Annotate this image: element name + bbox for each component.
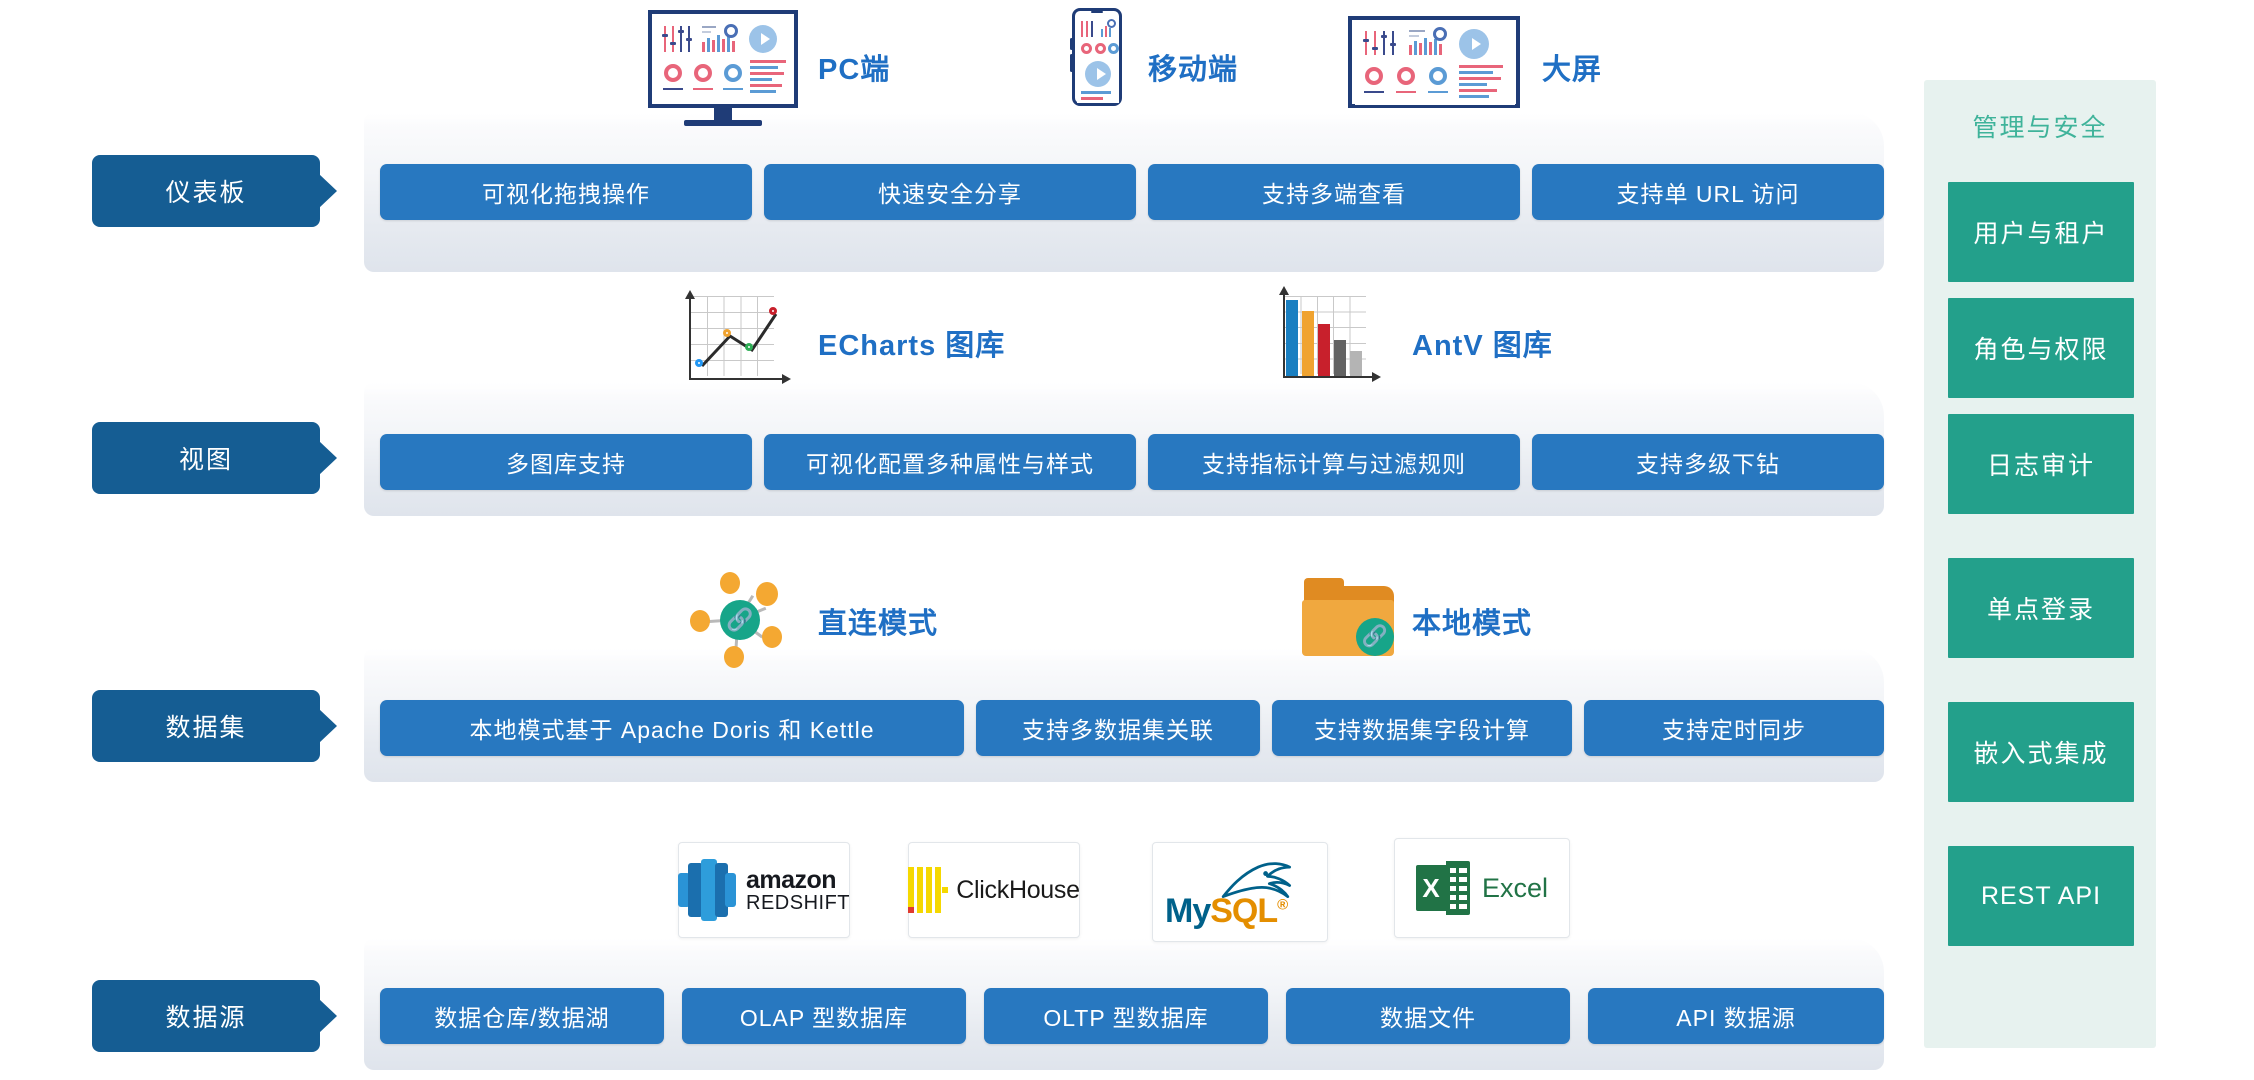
mock-donut xyxy=(664,64,682,82)
mock-line xyxy=(1396,91,1416,93)
mock-donut xyxy=(1108,43,1119,54)
mock-slider-knob xyxy=(1390,43,1396,46)
feature-label: OLAP 型数据库 xyxy=(740,999,908,1033)
amazon-redshift-logo-card[interactable]: amazon REDSHIFT xyxy=(678,842,850,938)
layer-label-view[interactable]: 视图 xyxy=(92,422,320,494)
network-node xyxy=(756,582,778,606)
feature-pill[interactable]: 支持指标计算与过滤规则 xyxy=(1148,434,1520,490)
mock-donut xyxy=(1365,67,1383,85)
feature-label: OLTP 型数据库 xyxy=(1043,999,1208,1033)
chart-point xyxy=(769,307,777,315)
amazon-redshift-logo: amazon REDSHIFT xyxy=(678,859,850,921)
excel-cell xyxy=(1450,877,1456,882)
mock-bar xyxy=(1105,26,1107,37)
mock-slider-knob xyxy=(1381,35,1387,38)
panel-bevel xyxy=(364,382,1884,396)
mock-slider-knob xyxy=(662,34,668,37)
mock-line xyxy=(1364,91,1384,93)
ch-bar xyxy=(926,867,932,913)
excel-cell xyxy=(1450,868,1456,873)
feature-pill[interactable]: 数据文件 xyxy=(1286,988,1570,1044)
excel-cell xyxy=(1450,895,1456,900)
mock-slider-knob xyxy=(686,38,692,41)
mock-play-triangle xyxy=(1472,38,1481,50)
feature-pill[interactable]: 数据仓库/数据湖 xyxy=(380,988,664,1044)
redshift-cylinder-icon xyxy=(678,859,736,921)
network-link-icon: 🔗 xyxy=(690,570,788,668)
excel-cell xyxy=(1450,886,1456,891)
sidebar-item-label: 角色与权限 xyxy=(1973,330,2108,366)
redshift-line2: REDSHIFT xyxy=(746,893,850,913)
echarts-line-chart-icon xyxy=(676,292,794,388)
mysql-my: My xyxy=(1165,892,1210,930)
bigscreen-frame xyxy=(1348,16,1520,108)
mock-bar xyxy=(712,40,715,52)
ch-bar xyxy=(917,867,923,913)
mock-line xyxy=(723,88,743,90)
sidebar-item-label: 嵌入式集成 xyxy=(1973,734,2108,770)
sidebar-title: 管理与安全 xyxy=(1924,108,2156,144)
feature-pill[interactable]: 支持多数据集关联 xyxy=(976,700,1260,756)
sidebar-item-users[interactable]: 用户与租户 xyxy=(1948,182,2134,282)
clickhouse-logo-card[interactable]: ClickHouse xyxy=(908,842,1080,938)
mock-line xyxy=(663,88,683,90)
mock-play-triangle xyxy=(761,33,770,45)
monitor-frame xyxy=(648,10,798,108)
dashboard-mockup xyxy=(1355,23,1515,105)
bigscreen-caption: 大屏 xyxy=(1542,46,1602,88)
mysql-reg-mark: ® xyxy=(1277,897,1287,914)
mock-slider xyxy=(664,26,666,52)
mock-slider-knob xyxy=(1363,39,1369,42)
link-icon: 🔗 xyxy=(1356,618,1394,656)
feature-label: 可视化拖拽操作 xyxy=(482,175,650,209)
mock-list-bar xyxy=(1459,65,1503,68)
mock-bar xyxy=(722,39,725,52)
chart-bar xyxy=(1286,300,1298,376)
mock-donut xyxy=(1397,67,1415,85)
mock-line xyxy=(1428,91,1448,93)
excel-mark-icon: X xyxy=(1416,861,1470,915)
mock-bar xyxy=(1434,39,1437,55)
mock-slider xyxy=(1086,21,1088,37)
antv-bar-chart-icon xyxy=(1272,294,1382,388)
feature-label: 支持指标计算与过滤规则 xyxy=(1202,445,1466,479)
mock-donut xyxy=(1081,43,1092,54)
direct-mode-caption: 直连模式 xyxy=(818,600,938,642)
network-node xyxy=(690,610,710,632)
x-axis xyxy=(1283,376,1375,378)
mock-line xyxy=(1409,30,1425,32)
phone-speaker xyxy=(1091,11,1103,13)
mock-bar xyxy=(702,42,705,52)
ch-red-square xyxy=(908,907,914,913)
pc-caption: PC端 xyxy=(818,46,890,88)
feature-pill[interactable]: OLTP 型数据库 xyxy=(984,988,1268,1044)
folder-link-icon: 🔗 xyxy=(1302,578,1398,660)
layer-label-dataset[interactable]: 数据集 xyxy=(92,690,320,762)
mock-line xyxy=(693,88,713,90)
feature-pill[interactable]: 可视化拖拽操作 xyxy=(380,164,752,220)
feature-label: 多图库支持 xyxy=(506,445,626,479)
feature-label: 快速安全分享 xyxy=(878,175,1022,209)
mock-ring xyxy=(1433,27,1447,41)
mock-bar xyxy=(1424,38,1427,55)
feature-label: 支持多端查看 xyxy=(1262,175,1406,209)
mock-slider xyxy=(1091,21,1093,37)
excel-cell xyxy=(1459,886,1467,891)
panel-bevel xyxy=(364,938,1884,952)
mock-play-triangle xyxy=(1097,68,1106,80)
feature-pill[interactable]: 支持单 URL 访问 xyxy=(1532,164,1884,220)
feature-pill[interactable]: 支持多级下钻 xyxy=(1532,434,1884,490)
sidebar-item-rest-api[interactable]: REST API xyxy=(1948,846,2134,946)
network-node xyxy=(720,572,740,594)
redshift-wordmark: amazon REDSHIFT xyxy=(746,868,850,913)
mock-list-bar xyxy=(750,78,772,81)
mock-bar xyxy=(727,36,730,52)
feature-pill[interactable]: API 数据源 xyxy=(1588,988,1884,1044)
mysql-logo-card[interactable]: MySQL® xyxy=(1152,842,1328,942)
clickhouse-mark-icon xyxy=(908,867,948,913)
excel-x-letter: X xyxy=(1416,865,1446,911)
feature-label: 支持定时同步 xyxy=(1662,711,1806,745)
clickhouse-logo: ClickHouse xyxy=(908,867,1079,913)
sidebar-item-label: 用户与租户 xyxy=(1973,214,2108,250)
mysql-logo: MySQL® xyxy=(1165,854,1315,930)
mock-list-bar xyxy=(1459,77,1501,80)
mock-list-bar xyxy=(1459,71,1493,74)
mysql-sql: SQL xyxy=(1210,892,1277,930)
mock-bar xyxy=(1429,42,1432,55)
ch-bar xyxy=(935,867,941,913)
big-screen-icon xyxy=(1348,16,1524,112)
sidebar-item-sso[interactable]: 单点登录 xyxy=(1948,558,2134,658)
mock-slider-knob xyxy=(670,42,676,45)
cyl-seg xyxy=(725,873,736,907)
feature-pill[interactable]: 本地模式基于 Apache Doris 和 Kettle xyxy=(380,700,964,756)
phone-side-button xyxy=(1070,54,1073,72)
sidebar-item-embedded[interactable]: 嵌入式集成 xyxy=(1948,702,2134,802)
chart-bar xyxy=(1302,311,1314,376)
chart-point xyxy=(723,329,731,337)
antv-caption: AntV 图库 xyxy=(1412,322,1553,364)
feature-label: 支持单 URL 访问 xyxy=(1617,175,1800,209)
sidebar-item-audit-log[interactable]: 日志审计 xyxy=(1948,414,2134,514)
sidebar-item-label: 日志审计 xyxy=(1987,446,2095,482)
clickhouse-wordmark: ClickHouse xyxy=(956,876,1079,905)
mock-ring xyxy=(724,24,738,38)
layer-label-text: 视图 xyxy=(179,440,233,476)
mock-donut xyxy=(1429,67,1447,85)
phone-frame xyxy=(1072,8,1122,106)
feature-label: 支持多数据集关联 xyxy=(1022,711,1214,745)
mock-slider-knob xyxy=(1372,47,1378,50)
mock-list-bar xyxy=(750,84,782,87)
excel-cell xyxy=(1459,904,1467,909)
mock-slider xyxy=(1365,31,1367,55)
layer-label-text: 数据集 xyxy=(165,708,246,744)
excel-cell xyxy=(1459,877,1467,882)
layer-label-dashboard[interactable]: 仪表板 xyxy=(92,155,320,227)
mock-slider xyxy=(1081,21,1083,37)
excel-logo-card[interactable]: X Excel xyxy=(1394,838,1570,938)
feature-pill[interactable]: 支持定时同步 xyxy=(1584,700,1884,756)
dashboard-mockup xyxy=(1077,17,1119,103)
feature-label: 数据仓库/数据湖 xyxy=(434,999,609,1033)
sidebar-item-label: 单点登录 xyxy=(1987,590,2095,626)
local-mode-caption: 本地模式 xyxy=(1412,600,1532,642)
feature-label: 可视化配置多种属性与样式 xyxy=(806,445,1094,479)
y-axis xyxy=(1283,292,1285,378)
mock-list-bar xyxy=(1081,91,1111,94)
feature-label: API 数据源 xyxy=(1676,999,1795,1033)
mock-bar xyxy=(717,35,720,52)
mock-bar xyxy=(732,41,735,52)
feature-pill[interactable]: 快速安全分享 xyxy=(764,164,1136,220)
mobile-phone-icon xyxy=(1072,8,1128,108)
feature-pill[interactable]: 多图库支持 xyxy=(380,434,752,490)
mock-slider xyxy=(1374,31,1376,55)
panel-bevel xyxy=(364,648,1884,662)
excel-grid-panel xyxy=(1446,861,1470,915)
mock-list-bar xyxy=(1459,83,1487,86)
mysql-wordmark: MySQL® xyxy=(1165,894,1287,928)
feature-label: 数据文件 xyxy=(1380,999,1476,1033)
mock-list-bar xyxy=(1081,97,1103,100)
feature-pill[interactable]: 支持多端查看 xyxy=(1148,164,1520,220)
excel-cell xyxy=(1459,868,1467,873)
feature-label: 支持多级下钻 xyxy=(1636,445,1780,479)
feature-pill[interactable]: 支持数据集字段计算 xyxy=(1272,700,1572,756)
dashboard-mockup xyxy=(654,16,794,104)
mock-line xyxy=(702,26,716,28)
mock-bar xyxy=(1101,29,1103,37)
mock-line xyxy=(1409,35,1419,37)
link-icon: 🔗 xyxy=(720,600,760,640)
excel-logo: X Excel xyxy=(1416,861,1548,915)
mock-slider xyxy=(672,26,674,52)
management-security-sidebar: 管理与安全 用户与租户 角色与权限 日志审计 单点登录 嵌入式集成 REST A… xyxy=(1924,80,2156,1048)
network-node xyxy=(762,626,782,648)
sidebar-item-roles[interactable]: 角色与权限 xyxy=(1948,298,2134,398)
mock-bar xyxy=(1439,44,1442,55)
mock-bar xyxy=(1109,28,1111,37)
mock-bar xyxy=(707,38,710,52)
layer-label-datasource[interactable]: 数据源 xyxy=(92,980,320,1052)
mock-slider-knob xyxy=(678,30,684,33)
feature-pill[interactable]: 可视化配置多种属性与样式 xyxy=(764,434,1136,490)
chart-bar xyxy=(1350,351,1362,376)
feature-pill[interactable]: OLAP 型数据库 xyxy=(682,988,966,1044)
chart-point xyxy=(745,343,753,351)
sidebar-item-label: REST API xyxy=(1981,882,2101,911)
network-node xyxy=(724,646,744,668)
mock-list-bar xyxy=(1459,89,1497,92)
chart-point xyxy=(695,359,703,367)
layer-label-text: 数据源 xyxy=(165,998,246,1034)
chart-bar xyxy=(1318,324,1330,376)
mock-donut xyxy=(694,64,712,82)
chart-polyline xyxy=(676,292,794,388)
mock-line xyxy=(702,31,711,33)
mobile-caption: 移动端 xyxy=(1148,46,1238,88)
feature-label: 支持数据集字段计算 xyxy=(1314,711,1530,745)
excel-cell xyxy=(1450,904,1456,909)
mock-list-bar xyxy=(750,90,776,93)
monitor-base xyxy=(684,120,762,126)
echarts-caption: ECharts 图库 xyxy=(818,322,1005,364)
mock-list-bar xyxy=(750,60,786,63)
phone-side-button xyxy=(1070,38,1073,50)
mock-bar xyxy=(1414,41,1417,55)
layer-label-text: 仪表板 xyxy=(165,173,246,209)
chart-bar xyxy=(1334,340,1346,376)
mock-donut xyxy=(1095,43,1106,54)
mock-ring xyxy=(1107,19,1116,28)
mock-donut xyxy=(724,64,742,82)
excel-cell xyxy=(1459,895,1467,900)
architecture-diagram: 仪表板 xyxy=(0,0,2254,1080)
feature-label: 本地模式基于 Apache Doris 和 Kettle xyxy=(469,711,874,745)
mock-list-bar xyxy=(1459,95,1489,98)
mock-list-bar xyxy=(750,66,778,69)
mock-bar xyxy=(1409,45,1412,55)
ch-square xyxy=(942,887,948,893)
excel-wordmark: Excel xyxy=(1482,873,1548,904)
panel-bevel xyxy=(364,112,1884,126)
redshift-line1: amazon xyxy=(746,868,850,893)
mock-bar xyxy=(1419,43,1422,55)
pc-monitor-icon xyxy=(648,10,798,130)
mock-list-bar xyxy=(750,72,784,75)
